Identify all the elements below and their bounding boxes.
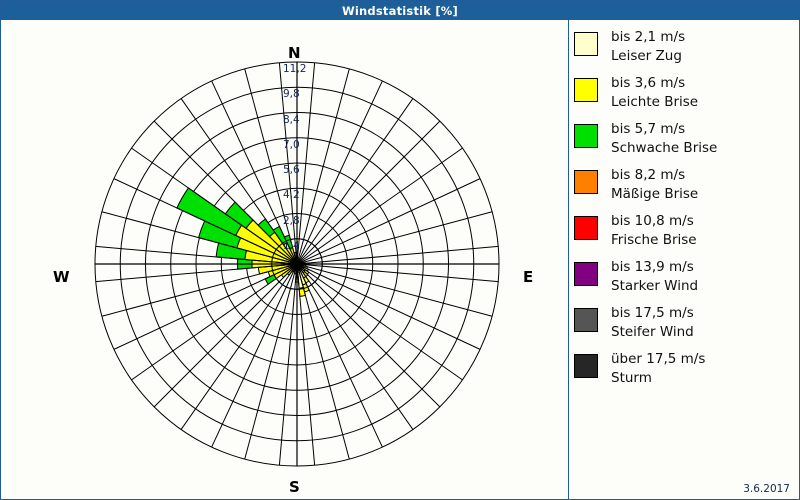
legend-color-swatch: [574, 78, 598, 102]
window-title: Windstatistik [%]: [342, 4, 458, 18]
legend-color-swatch: [574, 308, 598, 332]
grid-spoke: [132, 264, 297, 380]
legend-beaufort-name: Starker Wind: [611, 277, 698, 296]
legend-text: bis 3,6 m/sLeichte Brise: [611, 73, 698, 111]
window-title-bar: Windstatistik [%]: [1, 1, 799, 20]
legend-row[interactable]: bis 5,7 m/sSchwache Brise: [574, 119, 798, 157]
radial-tick-label: 1,4: [283, 240, 300, 252]
grid-spoke: [245, 264, 297, 459]
grid-spoke: [102, 264, 297, 316]
grid-spoke: [132, 148, 297, 264]
radial-tick-label: 4,2: [283, 189, 300, 201]
radial-tick-label: 7,0: [283, 139, 300, 151]
legend-row[interactable]: über 17,5 m/sSturm: [574, 349, 798, 387]
legend-color-swatch: [574, 262, 598, 286]
legend-color-swatch: [574, 32, 598, 56]
grid-spoke: [297, 264, 492, 316]
compass-label-north: N: [288, 44, 301, 62]
grid-spoke: [297, 212, 492, 264]
legend-text: bis 13,9 m/sStarker Wind: [611, 257, 698, 295]
legend-text: über 17,5 m/sSturm: [611, 349, 705, 387]
legend-color-swatch: [574, 216, 598, 240]
radial-tick-label: 2,8: [283, 215, 300, 227]
legend-speed-range: bis 2,1 m/s: [611, 28, 685, 47]
grid-spoke: [297, 121, 440, 264]
legend-row[interactable]: bis 3,6 m/sLeichte Brise: [574, 73, 798, 111]
legend-row[interactable]: bis 2,1 m/sLeiser Zug: [574, 27, 798, 65]
footer-date: 3.6.2017: [743, 483, 790, 495]
legend-color-swatch: [574, 124, 598, 148]
radial-tick-label: 9,8: [283, 88, 300, 100]
radial-tick-label: 5,6: [283, 164, 300, 176]
radial-tick-label: 11,2: [283, 63, 306, 75]
legend-row[interactable]: bis 13,9 m/sStarker Wind: [574, 257, 798, 295]
grid-spoke: [181, 264, 297, 429]
legend-beaufort-name: Sturm: [611, 369, 705, 388]
grid-spoke: [154, 264, 297, 407]
compass-label-south: S: [289, 478, 300, 496]
compass-label-east: E: [523, 268, 533, 286]
legend-beaufort-name: Leichte Brise: [611, 93, 698, 112]
grid-spoke: [297, 148, 462, 264]
panel-divider: [568, 20, 569, 499]
grid-spoke: [297, 264, 462, 380]
grid-spoke: [297, 69, 349, 264]
radial-tick-label: 8,4: [283, 114, 300, 126]
grid-spoke: [297, 264, 440, 407]
legend-beaufort-name: Steifer Wind: [611, 323, 694, 342]
legend-text: bis 8,2 m/sMäßige Brise: [611, 165, 698, 203]
compass-label-west: W: [53, 268, 70, 286]
legend-text: bis 2,1 m/sLeiser Zug: [611, 27, 685, 65]
legend-speed-range: bis 10,8 m/s: [611, 212, 697, 231]
legend-speed-range: bis 8,2 m/s: [611, 166, 698, 185]
legend-speed-range: bis 5,7 m/s: [611, 120, 717, 139]
legend-row[interactable]: bis 17,5 m/sSteifer Wind: [574, 303, 798, 341]
wind-statistics-window: Windstatistik [%] N S W E 1,42,84,25,67,…: [0, 0, 800, 500]
legend-beaufort-name: Mäßige Brise: [611, 185, 698, 204]
legend-speed-range: bis 17,5 m/s: [611, 304, 694, 323]
legend-beaufort-name: Frische Brise: [611, 231, 697, 250]
grid-spoke: [297, 264, 413, 429]
legend-text: bis 17,5 m/sSteifer Wind: [611, 303, 694, 341]
grid-spoke: [297, 264, 349, 459]
legend-row[interactable]: bis 8,2 m/sMäßige Brise: [574, 165, 798, 203]
grid-spoke: [297, 99, 413, 264]
wind-rose-plot: N S W E 1,42,84,25,67,08,49,811,2: [2, 20, 568, 499]
legend-color-swatch: [574, 354, 598, 378]
legend-row[interactable]: bis 10,8 m/sFrische Brise: [574, 211, 798, 249]
legend-text: bis 10,8 m/sFrische Brise: [611, 211, 697, 249]
legend-text: bis 5,7 m/sSchwache Brise: [611, 119, 717, 157]
legend-speed-range: über 17,5 m/s: [611, 350, 705, 369]
legend-color-swatch: [574, 170, 598, 194]
legend-beaufort-name: Schwache Brise: [611, 139, 717, 158]
wind-speed-legend: bis 2,1 m/sLeiser Zugbis 3,6 m/sLeichte …: [574, 27, 798, 395]
legend-speed-range: bis 3,6 m/s: [611, 74, 698, 93]
legend-speed-range: bis 13,9 m/s: [611, 258, 698, 277]
legend-beaufort-name: Leiser Zug: [611, 47, 685, 66]
